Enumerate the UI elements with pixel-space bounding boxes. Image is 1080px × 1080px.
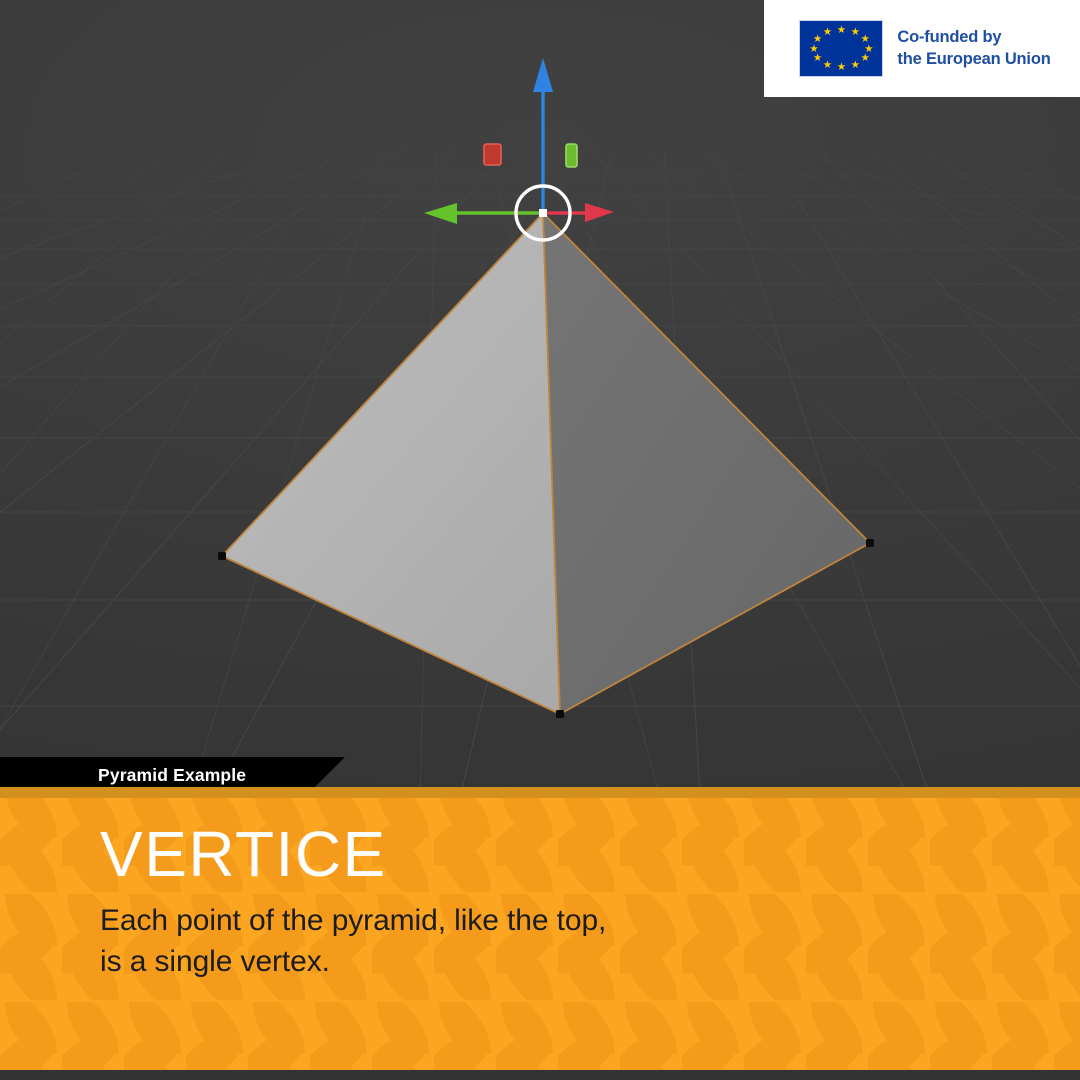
x-axis-arrow[interactable] — [424, 203, 543, 224]
eu-badge-line2: the European Union — [897, 49, 1050, 70]
bottom-bar — [0, 1070, 1080, 1080]
pyramid-face-left — [222, 213, 560, 714]
pyramid-face-right — [543, 213, 870, 714]
scene-label-text: Pyramid Example — [98, 765, 246, 786]
caption-headline: VERTICE — [100, 822, 1040, 886]
z-axis-arrow[interactable] — [533, 58, 553, 213]
caption-content: VERTICE Each point of the pyramid, like … — [100, 822, 1040, 983]
eu-badge-text: Co-funded by the European Union — [897, 27, 1050, 69]
vertex-dot-front — [556, 710, 564, 718]
caption-panel: VERTICE Each point of the pyramid, like … — [0, 798, 1080, 1070]
vertex-dot-left — [218, 552, 226, 560]
caption-body-line2: is a single vertex. — [100, 941, 1040, 982]
blender-3d-viewport[interactable] — [0, 0, 1080, 798]
viewport-canvas — [0, 0, 1080, 798]
caption-body-line1: Each point of the pyramid, like the top, — [100, 900, 1040, 941]
gizmo-origin-dot — [539, 209, 547, 217]
xz-plane-handle[interactable] — [566, 144, 577, 167]
vertex-dot-right — [866, 539, 874, 547]
y-axis-arrow[interactable] — [543, 203, 614, 222]
co-funded-by-eu-badge: ★ ★ ★ ★ ★ ★ ★ ★ ★ ★ ★ ★ Co-funded by the… — [764, 0, 1080, 97]
eu-flag-icon: ★ ★ ★ ★ ★ ★ ★ ★ ★ ★ ★ ★ — [799, 20, 883, 77]
pyramid-object[interactable] — [218, 213, 874, 718]
move-transform-gizmo[interactable] — [424, 58, 614, 240]
eu-badge-line1: Co-funded by — [897, 27, 1050, 48]
slide-root: ★ ★ ★ ★ ★ ★ ★ ★ ★ ★ ★ ★ Co-funded by the… — [0, 0, 1080, 1080]
caption-accent-strip — [0, 787, 1080, 798]
yz-plane-handle[interactable] — [484, 144, 501, 165]
